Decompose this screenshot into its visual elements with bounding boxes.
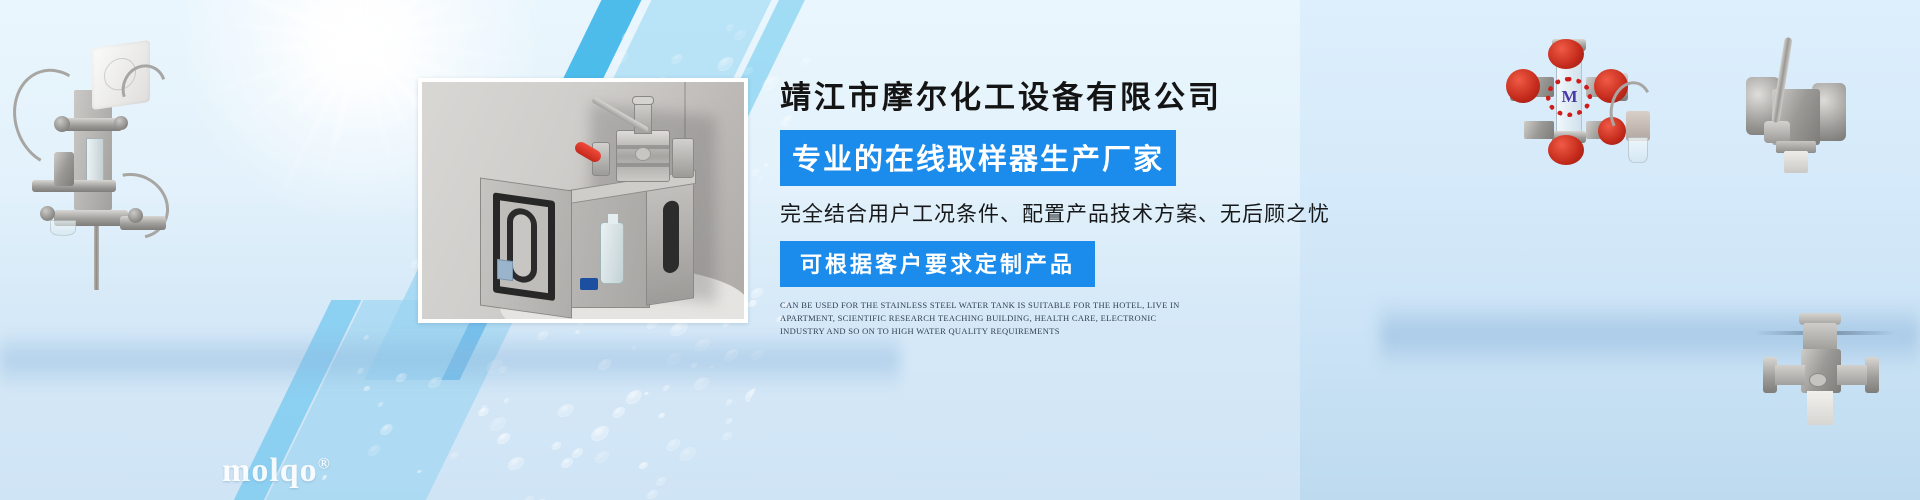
watermark-logo: molqo® [222, 452, 331, 490]
water-droplet [725, 399, 734, 405]
handwheel-upper-right [114, 116, 128, 130]
handwheel-left [1506, 69, 1540, 103]
water-droplet [724, 24, 736, 32]
tagline-badge: 专业的在线取样器生产厂家 [780, 130, 1176, 186]
water-droplet [657, 413, 666, 418]
water-droplet [763, 163, 770, 167]
water-droplet [669, 54, 684, 63]
lever-valve-outlet-cup [1784, 151, 1808, 173]
cross-body-lower-left [1524, 121, 1554, 139]
water-droplet [522, 496, 536, 500]
flange-right-branch [120, 216, 166, 230]
water-droplet [559, 458, 575, 468]
water-droplet [495, 433, 513, 444]
bottom-valve-pipe-left [1775, 365, 1805, 385]
water-droplet [570, 448, 586, 458]
water-droplet [589, 426, 612, 441]
description-text: 完全结合用户工况条件、配置产品技术方案、无后顾之忧 [780, 198, 1420, 228]
water-droplet [610, 407, 627, 418]
product-banner: 靖江市摩尔化工设备有限公司 专业的在线取样器生产厂家 完全结合用户工况条件、配置… [0, 0, 1920, 500]
water-droplet [555, 404, 576, 417]
valve-nameplate [635, 147, 651, 161]
valve-band-2 [617, 163, 669, 167]
water-droplet [417, 470, 422, 473]
company-seal-logo: M [1546, 77, 1592, 117]
left-equipment-image [10, 20, 180, 290]
water-droplet [623, 390, 644, 404]
water-droplet [654, 477, 667, 486]
water-droplet [476, 408, 490, 417]
water-droplet [724, 418, 733, 424]
blue-bottle-cap [580, 278, 598, 290]
handwheel-lower-right [128, 208, 143, 223]
right-bottom-valve-image [1745, 265, 1915, 425]
cabinet-side-panel [646, 178, 694, 306]
bottle-neck [608, 214, 618, 224]
bottom-valve-pipe-right [1837, 365, 1867, 385]
sun-ray [359, 40, 361, 150]
sample-bottle [600, 222, 624, 284]
custom-product-badge: 可根据客户要求定制产品 [780, 241, 1095, 287]
water-droplet [505, 457, 526, 470]
handwheel-upper-left [54, 116, 70, 132]
door-latch [497, 259, 513, 281]
sampling-valve-assembly [590, 102, 694, 194]
relief-valve [54, 152, 74, 186]
water-droplet [732, 30, 747, 40]
cabinet-door [480, 178, 572, 319]
water-droplet [620, 32, 633, 40]
water-droplet [676, 447, 698, 461]
horizon-haze-left [0, 330, 900, 390]
water-droplet [664, 439, 682, 450]
valve-body [616, 130, 670, 182]
valve-knob [632, 96, 654, 105]
water-droplet [488, 417, 509, 430]
banner-copy: 靖江市摩尔化工设备有限公司 专业的在线取样器生产厂家 完全结合用户工况条件、配置… [780, 72, 1420, 338]
bottom-valve-nameplate [1809, 373, 1827, 387]
handwheel-top [1548, 39, 1584, 69]
water-droplet [610, 51, 630, 64]
lever-valve-nameplate-boss [1764, 121, 1790, 143]
bottom-valve-bonnet [1803, 323, 1837, 351]
bottom-valve-outlet [1807, 391, 1833, 425]
water-droplet [748, 288, 765, 299]
water-droplet [448, 452, 460, 459]
water-droplet [638, 462, 649, 469]
right-lever-valve-image [1700, 25, 1890, 185]
right-cross-valve-image: M [1490, 25, 1670, 165]
cabinet-handle [663, 200, 679, 275]
water-droplet [503, 398, 510, 403]
water-droplet [800, 57, 812, 65]
water-droplet [593, 451, 612, 463]
bottom-valve-flange-right [1865, 357, 1879, 393]
water-droplet [645, 490, 660, 499]
water-droplet [715, 57, 736, 71]
seal-ring [1546, 77, 1592, 117]
sample-bottle-left [50, 220, 76, 236]
water-droplet [760, 76, 781, 90]
company-name: 靖江市摩尔化工设备有限公司 [780, 72, 1420, 117]
handwheel-lower-left [40, 206, 55, 221]
water-droplet [378, 424, 394, 434]
handwheel-bottom [1548, 135, 1584, 165]
water-droplet [377, 402, 385, 407]
water-droplet [742, 67, 755, 75]
water-droplet [550, 442, 563, 450]
english-description: CAN BE USED FOR THE STAINLESS STEEL WATE… [780, 299, 1200, 338]
water-droplet [644, 392, 649, 395]
water-droplet [365, 445, 382, 456]
product-photo [418, 78, 748, 323]
watermark-text: molqo [222, 452, 318, 489]
cross-sample-bottle [1628, 137, 1648, 163]
watermark-registered-symbol: ® [318, 456, 331, 473]
water-droplet [721, 432, 734, 440]
valve-flange-right [672, 138, 694, 178]
